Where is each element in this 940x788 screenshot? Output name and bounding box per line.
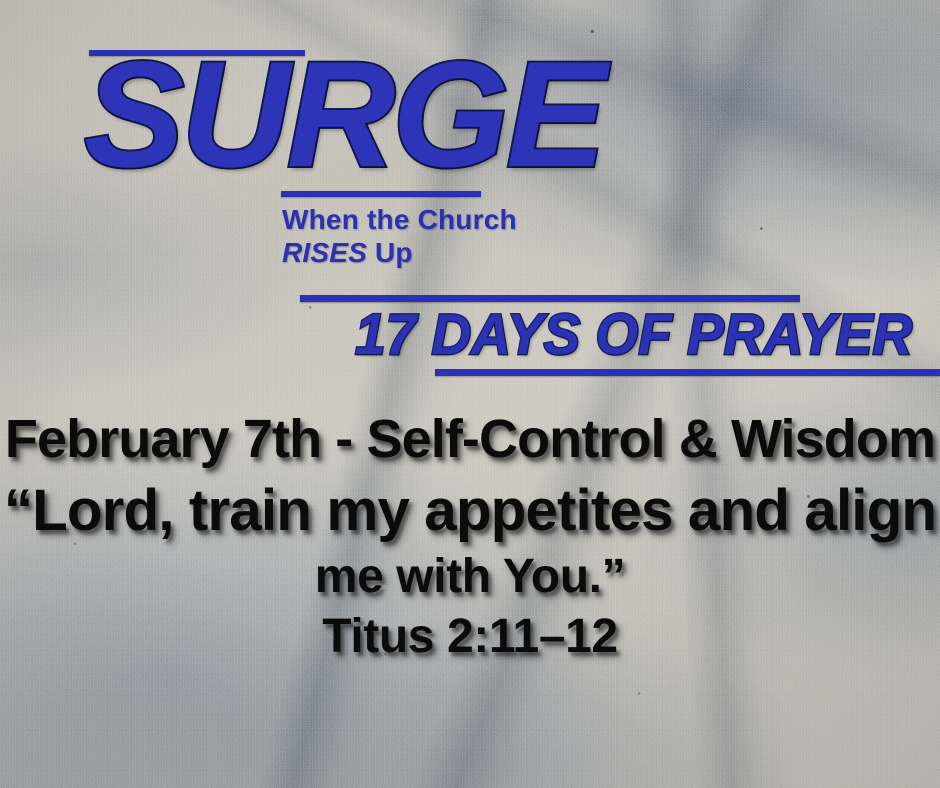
tagline-line-1: When the Church: [282, 204, 517, 235]
message-line-prayer-2: me with You.”: [0, 547, 940, 607]
prayer-poster: SURGE When the Church RISES Up 17 DAYS O…: [0, 0, 940, 788]
surge-wordmark: SURGE: [84, 40, 603, 191]
message-block: February 7th - Self-Control & Wisdom “Lo…: [0, 406, 940, 668]
message-line-scripture: Titus 2:11–12: [0, 607, 940, 667]
surge-logo-block: SURGE When the Church RISES Up 17 DAYS O…: [0, 0, 940, 390]
tagline-rises: RISES: [282, 237, 367, 268]
surge-wordmark-text: SURGE: [84, 40, 603, 191]
tagline-up: Up: [375, 237, 413, 268]
surge-underline-rule: [281, 191, 481, 197]
banner-rule-below: [435, 369, 940, 376]
surge-tagline: When the Church RISES Up: [282, 203, 517, 269]
message-line-date-theme: February 7th - Self-Control & Wisdom: [0, 406, 940, 474]
message-line-prayer-1: “Lord, train my appetites and align: [0, 474, 940, 547]
days-of-prayer-headline: 17 DAYS OF PRAYER: [355, 306, 912, 363]
